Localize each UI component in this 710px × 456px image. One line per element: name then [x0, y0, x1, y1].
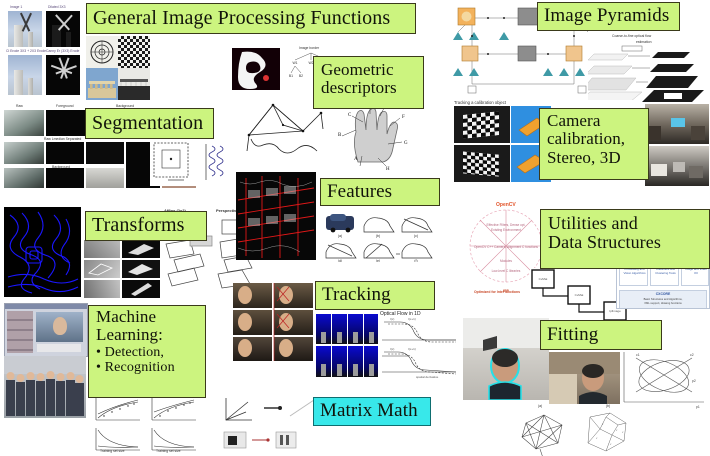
- label-bullet-recognition: • Recognition: [96, 360, 198, 375]
- svg-text:Low-level C libraries: Low-level C libraries: [492, 269, 521, 273]
- table-footer-title: CXCORE: [620, 292, 706, 296]
- ml-axis-label-1: Training set size: [100, 449, 125, 453]
- opencv-footer-sub: Optimized for Intel functions: [474, 290, 520, 294]
- label-line-1: Camera: [547, 112, 641, 130]
- label-geometric-descriptors[interactable]: Geometric descriptors: [313, 56, 424, 109]
- label-line-1: Utilities and: [548, 214, 702, 233]
- tracking-motion-grid: [316, 314, 380, 378]
- label-utilities-data-structures[interactable]: Utilities and Data Structures: [540, 209, 710, 269]
- label-tracking[interactable]: Tracking: [315, 281, 435, 310]
- table-footer-line-2: XML support, drawing functions: [620, 302, 706, 305]
- label-fitting[interactable]: Fitting: [540, 320, 662, 350]
- matrix-math-figure: [218, 392, 328, 454]
- label-text: Transforms: [92, 215, 185, 237]
- svg-text:c2: c2: [690, 353, 694, 357]
- windmill-caption-2: Dilated 3X3: [48, 5, 66, 9]
- ml-group-photo: [4, 356, 86, 418]
- svg-text:(c): (c): [414, 234, 418, 238]
- tree-caption: Image border: [299, 46, 319, 50]
- ml-axis-label-2: Training set size: [156, 449, 181, 453]
- svg-text:IplImage: IplImage: [609, 309, 621, 313]
- label-text: Tracking: [322, 285, 391, 306]
- calibration-caption: Tracking a calibration object: [454, 100, 506, 105]
- label-line-2: calibration,: [547, 130, 641, 148]
- label-matrix-math[interactable]: Matrix Math: [313, 397, 431, 426]
- tracking-face-sequence: [233, 283, 313, 361]
- svg-text:CvMat: CvMat: [575, 293, 584, 297]
- svg-text:(a): (a): [338, 234, 342, 238]
- segmentation-row-label-1: Raw Lmedian Separated: [44, 137, 81, 141]
- transforms-edge-image: [4, 207, 81, 297]
- label-transforms[interactable]: Transforms: [85, 211, 207, 241]
- label-general-image-processing[interactable]: General Image Processing Functions: [86, 3, 416, 34]
- svg-text:v: v: [622, 431, 624, 434]
- label-text: General Image Processing Functions: [93, 8, 390, 30]
- label-line-3: Stereo, 3D: [547, 149, 641, 167]
- calibration-room-photos: [645, 104, 709, 186]
- label-image-pyramids[interactable]: Image Pyramids: [537, 2, 680, 31]
- svg-text:I(x): I(x): [390, 317, 394, 321]
- table-footer-line-1: Basic Structures and Algorithms,: [620, 298, 706, 301]
- slide-canvas: Image 1 Dilated 3X3 Cl Erode 3X3 + 2X3 E…: [0, 0, 710, 456]
- svg-text:B1: B1: [289, 74, 293, 78]
- windmill-caption-3: Cl Erode 3X3 + 2X3 Erode: [6, 49, 46, 53]
- svg-text:Existing Environment: Existing Environment: [491, 228, 521, 232]
- svg-text:CvMat: CvMat: [539, 277, 548, 281]
- svg-text:I(x): I(x): [390, 347, 394, 351]
- tracking-optical-flow-chart: Optical Flow in 1D I(x)I(x+1) I(x)I(x+1)…: [378, 310, 460, 380]
- svg-text:C: C: [348, 113, 352, 118]
- label-line-2: descriptors: [321, 79, 416, 97]
- label-features[interactable]: Features: [320, 178, 440, 206]
- windmill-caption-1: Image 1: [10, 5, 22, 9]
- pyramid-caption-line-2: estimation: [636, 40, 651, 44]
- ml-face-browser: [4, 303, 88, 357]
- fitting-subfig-a: (a): [538, 404, 542, 408]
- label-text: Features: [327, 182, 392, 203]
- segmentation-row-label-2: Background: [52, 165, 70, 169]
- svg-text:(f): (f): [414, 259, 417, 262]
- opencv-center-label: OpenCV: [496, 202, 516, 208]
- svg-text:F: F: [402, 115, 405, 120]
- fitting-conic-plot: p2p1 c1c2: [620, 348, 710, 412]
- label-text: Fitting: [547, 325, 598, 346]
- svg-text:spatial derivative: spatial derivative: [416, 375, 439, 379]
- svg-text:OpenCV C++ Camera, Alignment C: OpenCV C++ Camera, Alignment C functions: [474, 245, 538, 249]
- svg-text:I(x+1): I(x+1): [408, 347, 416, 351]
- fitting-subfig-b: (b): [606, 404, 610, 408]
- label-line-2: Data Structures: [548, 233, 702, 252]
- svg-text:I(x+1): I(x+1): [408, 317, 416, 321]
- svg-text:v: v: [616, 429, 618, 432]
- svg-text:B2: B2: [299, 74, 303, 78]
- svg-text:(d): (d): [338, 259, 342, 262]
- svg-text:B: B: [338, 133, 342, 138]
- features-shape-matching-figure: (a)(b)(c) (d)(e)(f): [320, 210, 440, 262]
- svg-text:G: G: [404, 141, 408, 146]
- descriptors-contour-image: [232, 48, 280, 90]
- windmill-panel-art: Image 1 Dilated 3X3 Cl Erode 3X3 + 2X3 E…: [4, 4, 84, 100]
- windmill-caption-4: Canny Er (3X3) Erode: [46, 49, 79, 53]
- svg-text:W1: W1: [292, 61, 297, 65]
- svg-text:(e): (e): [376, 259, 380, 262]
- svg-text:A: A: [354, 157, 358, 162]
- svg-text:c1: c1: [636, 353, 640, 357]
- label-text: Image Pyramids: [544, 6, 669, 27]
- segmentation-diagram: [150, 140, 234, 186]
- optical-flow-caption: Optical Flow in 1D: [380, 311, 421, 317]
- label-machine-learning[interactable]: Machine Learning: • Detection, • Recogni…: [88, 305, 206, 398]
- label-line-1: Geometric: [321, 61, 416, 79]
- svg-text:H: H: [386, 167, 390, 170]
- label-bullet-detection: • Detection,: [96, 345, 198, 360]
- fitting-graph-figures: (a) (b) vvv vv: [514, 404, 644, 456]
- pyramids-coarse-to-fine-figure: Coarse-to-fine optical flow estimation: [588, 34, 710, 102]
- svg-text:Effective Filters, Dense opt.: Effective Filters, Dense opt.: [487, 223, 526, 227]
- segmentation-header-foreground: Foreground: [56, 104, 74, 108]
- label-camera-calibration[interactable]: Camera calibration, Stereo, 3D: [539, 108, 649, 180]
- ml-bias-variance-charts: Under-fit: Bias Over-fit: Variance Train…: [90, 392, 202, 454]
- svg-text:p1: p1: [696, 405, 700, 409]
- svg-text:Modules: Modules: [500, 259, 512, 263]
- segmentation-header-raw: Raw: [16, 104, 23, 108]
- svg-text:v: v: [602, 423, 604, 426]
- label-text: Matrix Math: [320, 401, 418, 422]
- svg-text:v: v: [610, 443, 612, 446]
- label-line-1: Machine: [96, 308, 198, 326]
- svg-text:p2: p2: [692, 379, 696, 383]
- svg-text:v: v: [596, 437, 598, 440]
- label-segmentation[interactable]: Segmentation: [85, 108, 214, 139]
- svg-text:(b): (b): [376, 234, 380, 238]
- pyramid-caption-line-1: Coarse-to-fine optical flow: [612, 34, 651, 38]
- target-parthenon-tiles: [86, 36, 150, 100]
- fitting-face-photo-1: [463, 318, 549, 400]
- features-edge-building: [236, 172, 316, 260]
- label-line-2: Learning:: [96, 326, 198, 344]
- label-text: Segmentation: [92, 113, 203, 135]
